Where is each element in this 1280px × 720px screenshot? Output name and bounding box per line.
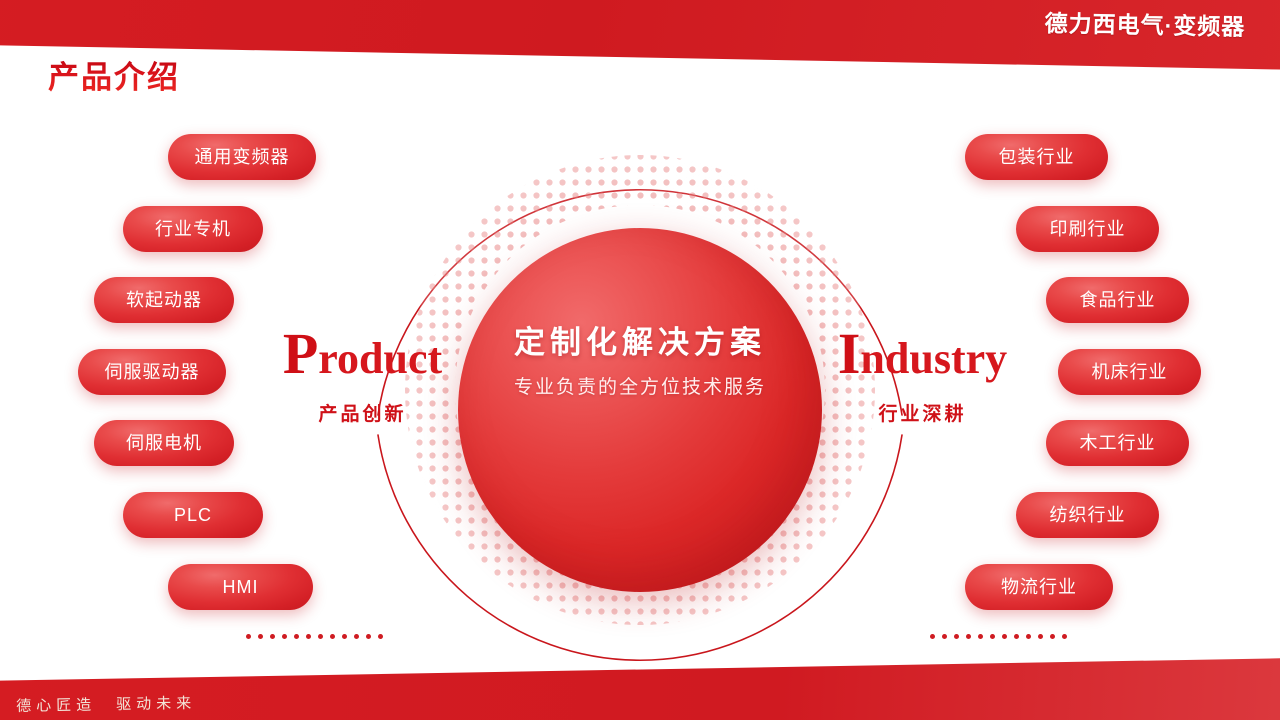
product-pill-0[interactable]: 通用变频器 <box>168 134 316 180</box>
ornament-dot <box>330 634 335 639</box>
industry-pill-5[interactable]: 纺织行业 <box>1016 492 1159 538</box>
industry-pill-0[interactable]: 包装行业 <box>965 134 1108 180</box>
product-pill-5[interactable]: PLC <box>123 492 263 538</box>
ornament-dot <box>978 634 983 639</box>
ornament-dot <box>1062 634 1067 639</box>
center-subline: 专业负责的全方位技术服务 <box>458 372 822 399</box>
slide-canvas: 德力西电气·变频器 产品介绍 <box>0 0 1280 720</box>
page-title: 产品介绍 <box>48 52 180 97</box>
ornament-dot <box>930 634 935 639</box>
ornament-dot <box>1050 634 1055 639</box>
ornament-dot <box>942 634 947 639</box>
product-pill-6[interactable]: HMI <box>168 564 313 610</box>
ornament-dot <box>990 634 995 639</box>
left-section-english-capital: P <box>283 321 318 386</box>
industry-pill-2[interactable]: 食品行业 <box>1046 277 1189 323</box>
ornament-dot <box>246 634 251 639</box>
industry-pill-1[interactable]: 印刷行业 <box>1016 206 1159 252</box>
ornament-dot <box>1014 634 1019 639</box>
ornament-dot <box>354 634 359 639</box>
product-pill-4[interactable]: 伺服电机 <box>94 420 234 466</box>
ornament-dot <box>366 634 371 639</box>
dotted-line-left <box>246 634 383 639</box>
industry-pill-4[interactable]: 木工行业 <box>1046 420 1189 466</box>
center-sphere-text: 定制化解决方案 专业负责的全方位技术服务 <box>458 324 822 399</box>
left-section-english-rest: roduct <box>318 334 442 383</box>
ornament-dot <box>1002 634 1007 639</box>
ornament-dot <box>966 634 971 639</box>
industry-pill-6[interactable]: 物流行业 <box>965 564 1113 610</box>
footer-slogan: 德心匠造 驱动未来 <box>16 692 196 716</box>
ornament-dot <box>342 634 347 639</box>
brand-logo-text: 德力西电气·变频器 <box>1045 4 1246 42</box>
industry-pill-3[interactable]: 机床行业 <box>1058 349 1201 395</box>
right-section-chinese: 行业深耕 <box>815 399 1030 426</box>
ornament-dot <box>282 634 287 639</box>
ornament-dot <box>318 634 323 639</box>
dotted-line-right <box>930 634 1067 639</box>
right-section-english: Industry <box>815 325 1030 383</box>
ornament-dot <box>270 634 275 639</box>
ornament-dot <box>306 634 311 639</box>
ornament-dot <box>1026 634 1031 639</box>
ornament-dot <box>294 634 299 639</box>
center-sphere: 定制化解决方案 专业负责的全方位技术服务 <box>458 228 822 592</box>
left-section-english: Product <box>255 325 470 383</box>
left-section-heading: Product 产品创新 <box>255 325 470 426</box>
center-headline: 定制化解决方案 <box>458 324 822 363</box>
ornament-dot <box>258 634 263 639</box>
ornament-dot <box>378 634 383 639</box>
product-pill-2[interactable]: 软起动器 <box>94 277 234 323</box>
product-pill-3[interactable]: 伺服驱动器 <box>78 349 226 395</box>
ornament-dot <box>954 634 959 639</box>
right-section-english-capital: I <box>838 321 861 386</box>
right-section-heading: Industry 行业深耕 <box>815 325 1030 426</box>
product-pill-1[interactable]: 行业专机 <box>123 206 263 252</box>
right-section-english-rest: ndustry <box>860 334 1007 383</box>
left-section-chinese: 产品创新 <box>255 399 470 426</box>
ornament-dot <box>1038 634 1043 639</box>
